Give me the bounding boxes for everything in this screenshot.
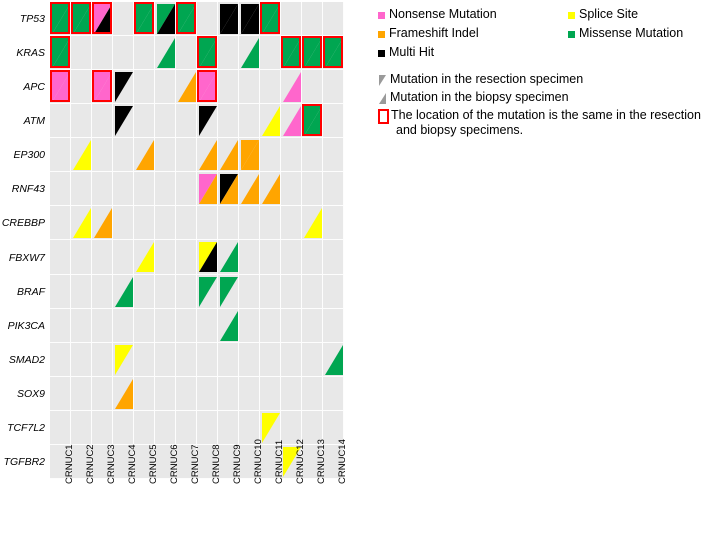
oncoprint-cell <box>239 240 260 274</box>
oncoprint-cell <box>71 377 92 411</box>
mutation-triangle-biopsy <box>73 140 91 170</box>
legend-highlight-note-line1: The location of the mutation is the same… <box>391 108 701 122</box>
mutation-triangle-biopsy <box>241 140 259 170</box>
legend-label-nonsense-mutation: Nonsense Mutation <box>389 8 497 21</box>
oncoprint-cell <box>50 240 71 274</box>
oncoprint-cell <box>176 36 197 70</box>
oncoprint-cell <box>134 36 155 70</box>
oncoprint-cell <box>176 309 197 343</box>
oncoprint-cell <box>239 70 260 104</box>
oncoprint-cell <box>134 343 155 377</box>
oncoprint-cell <box>176 206 197 240</box>
legend-label-multi-hit: Multi Hit <box>389 46 434 59</box>
oncoprint-cell <box>71 309 92 343</box>
same-location-highlight <box>260 2 280 34</box>
oncoprint-cell <box>71 240 92 274</box>
oncoprint-cell <box>260 240 281 274</box>
oncoprint-cell <box>260 70 281 104</box>
legend-swatch-multi-hit <box>378 50 385 57</box>
oncoprint-cell <box>281 275 302 309</box>
oncoprint-figure: TP53KRASAPCATMEP300RNF43CREBBPFBXW7BRAFP… <box>0 0 360 537</box>
legend-biopsy-triangle-icon <box>379 93 386 104</box>
mutation-triangle-biopsy <box>220 311 238 341</box>
sample-label-crnuc14: CRNUC14 <box>338 439 347 484</box>
same-location-highlight <box>176 2 196 34</box>
oncoprint-cell <box>50 138 71 172</box>
legend-highlight-box-icon <box>378 109 389 124</box>
oncoprint-cell <box>239 309 260 343</box>
oncoprint-cell <box>71 172 92 206</box>
oncoprint-cell <box>323 240 344 274</box>
oncoprint-cell <box>218 206 239 240</box>
oncoprint-cell <box>92 309 113 343</box>
same-location-highlight <box>71 2 91 34</box>
mutation-triangle-biopsy <box>304 208 322 238</box>
oncoprint-cell <box>302 240 323 274</box>
oncoprint-cell <box>113 309 134 343</box>
same-location-highlight <box>92 2 112 34</box>
oncoprint-cell <box>50 275 71 309</box>
mutation-triangle-biopsy <box>178 72 196 102</box>
oncoprint-cell <box>323 70 344 104</box>
oncoprint-cell <box>281 206 302 240</box>
oncoprint-cell <box>92 411 113 445</box>
gene-label-pik3ca: PIK3CA <box>0 321 45 331</box>
oncoprint-cell <box>134 70 155 104</box>
oncoprint-cell <box>260 377 281 411</box>
oncoprint-cell <box>281 2 302 36</box>
oncoprint-cell <box>92 104 113 138</box>
same-location-highlight <box>50 2 70 34</box>
sample-label-crnuc12: CRNUC12 <box>296 439 305 484</box>
sample-label-crnuc9: CRNUC9 <box>233 444 242 484</box>
gene-label-sox9: SOX9 <box>0 389 45 399</box>
gene-label-crebbp: CREBBP <box>0 218 45 228</box>
gene-label-tp53: TP53 <box>0 14 45 24</box>
mutation-triangle-biopsy <box>262 174 280 204</box>
oncoprint-cell <box>113 36 134 70</box>
mutation-triangle-biopsy <box>220 140 238 170</box>
oncoprint-cell <box>50 104 71 138</box>
oncoprint-cell <box>239 377 260 411</box>
same-location-highlight <box>323 36 343 68</box>
same-location-highlight <box>302 104 322 136</box>
oncoprint-cell <box>197 343 218 377</box>
mutation-triangle-biopsy <box>199 174 217 204</box>
oncoprint-cell <box>50 377 71 411</box>
oncoprint-cell <box>176 275 197 309</box>
mutation-triangle-biopsy <box>220 4 238 34</box>
oncoprint-cell <box>218 343 239 377</box>
gene-label-apc: APC <box>0 82 45 92</box>
oncoprint-cell <box>176 377 197 411</box>
gene-label-smad2: SMAD2 <box>0 355 45 365</box>
legend: Nonsense MutationSplice SiteFrameshift I… <box>378 8 723 148</box>
oncoprint-cell <box>323 104 344 138</box>
oncoprint-cell <box>281 240 302 274</box>
mutation-triangle-biopsy <box>136 242 154 272</box>
mutation-triangle-biopsy <box>157 38 175 68</box>
oncoprint-cell <box>50 172 71 206</box>
gene-label-atm: ATM <box>0 116 45 126</box>
oncoprint-cell <box>113 172 134 206</box>
legend-swatch-frameshift-indel <box>378 31 385 38</box>
legend-resection-triangle-icon <box>379 75 386 86</box>
oncoprint-cell <box>281 138 302 172</box>
oncoprint-cell <box>323 309 344 343</box>
oncoprint-grid <box>50 2 344 479</box>
oncoprint-cell <box>218 36 239 70</box>
mutation-triangle-resection <box>262 413 280 443</box>
legend-highlight-note-line2: and biopsy specimens. <box>396 123 523 137</box>
oncoprint-cell <box>155 138 176 172</box>
oncoprint-cell <box>302 138 323 172</box>
oncoprint-cell <box>281 343 302 377</box>
legend-swatch-splice-site <box>568 12 575 19</box>
mutation-triangle-biopsy <box>199 140 217 170</box>
oncoprint-cell <box>218 411 239 445</box>
oncoprint-cell <box>155 206 176 240</box>
oncoprint-cell <box>302 172 323 206</box>
oncoprint-cell <box>92 240 113 274</box>
oncoprint-cell <box>134 104 155 138</box>
legend-biopsy-note: Mutation in the biopsy specimen <box>390 91 569 104</box>
oncoprint-cell <box>71 36 92 70</box>
mutation-triangle-biopsy <box>220 174 238 204</box>
oncoprint-cell <box>176 138 197 172</box>
oncoprint-cell <box>176 343 197 377</box>
oncoprint-cell <box>260 309 281 343</box>
oncoprint-cell <box>260 275 281 309</box>
oncoprint-cell <box>302 377 323 411</box>
mutation-triangle-biopsy <box>325 345 343 375</box>
oncoprint-cell <box>218 377 239 411</box>
sample-label-crnuc1: CRNUC1 <box>65 444 74 484</box>
sample-label-crnuc10: CRNUC10 <box>254 439 263 484</box>
mutation-triangle-biopsy <box>283 72 301 102</box>
mutation-triangle-resection <box>199 106 217 136</box>
oncoprint-cell <box>323 2 344 36</box>
mutation-triangle-resection <box>115 72 133 102</box>
oncoprint-cell <box>71 275 92 309</box>
mutation-triangle-biopsy <box>241 38 259 68</box>
mutation-triangle-biopsy <box>262 106 280 136</box>
gene-label-tgfbr2: TGFBR2 <box>0 457 45 467</box>
legend-resection-note: Mutation in the resection specimen <box>390 73 583 86</box>
gene-label-braf: BRAF <box>0 287 45 297</box>
oncoprint-cell <box>302 343 323 377</box>
mutation-triangle-biopsy <box>115 379 133 409</box>
oncoprint-cell <box>155 240 176 274</box>
mutation-triangle-biopsy <box>241 4 259 34</box>
oncoprint-cell <box>155 377 176 411</box>
oncoprint-cell <box>50 309 71 343</box>
oncoprint-cell <box>197 377 218 411</box>
oncoprint-cell <box>260 138 281 172</box>
oncoprint-cell <box>92 343 113 377</box>
oncoprint-cell <box>197 309 218 343</box>
oncoprint-cell <box>176 411 197 445</box>
oncoprint-cell <box>239 206 260 240</box>
oncoprint-cell <box>197 411 218 445</box>
legend-swatch-missense-mutation <box>568 31 575 38</box>
gene-label-fbxw7: FBXW7 <box>0 253 45 263</box>
same-location-highlight <box>50 36 70 68</box>
sample-label-crnuc8: CRNUC8 <box>212 444 221 484</box>
mutation-triangle-resection <box>199 277 217 307</box>
oncoprint-cell <box>71 104 92 138</box>
oncoprint-cell <box>50 343 71 377</box>
oncoprint-cell <box>155 104 176 138</box>
same-location-highlight <box>92 70 112 102</box>
sample-label-crnuc11: CRNUC11 <box>275 440 284 484</box>
gene-axis: TP53KRASAPCATMEP300RNF43CREBBPFBXW7BRAFP… <box>0 0 48 480</box>
oncoprint-cell <box>176 172 197 206</box>
legend-label-splice-site: Splice Site <box>579 8 638 21</box>
oncoprint-cell <box>92 138 113 172</box>
mutation-triangle-biopsy <box>136 140 154 170</box>
gene-label-ep300: EP300 <box>0 150 45 160</box>
mutation-triangle-biopsy <box>199 242 217 272</box>
oncoprint-cell <box>260 343 281 377</box>
oncoprint-cell <box>302 2 323 36</box>
legend-swatch-nonsense-mutation <box>378 12 385 19</box>
sample-label-crnuc13: CRNUC13 <box>317 439 326 484</box>
mutation-triangle-resection <box>115 345 133 375</box>
oncoprint-cell <box>113 240 134 274</box>
same-location-highlight <box>197 70 217 102</box>
oncoprint-cell <box>323 377 344 411</box>
oncoprint-cell <box>92 275 113 309</box>
oncoprint-cell <box>71 343 92 377</box>
oncoprint-cell <box>50 206 71 240</box>
sample-axis: CRNUC1CRNUC2CRNUC3CRNUC4CRNUC5CRNUC6CRNU… <box>50 482 350 537</box>
oncoprint-cell <box>302 309 323 343</box>
oncoprint-cell <box>134 411 155 445</box>
oncoprint-cell <box>323 138 344 172</box>
sample-label-crnuc7: CRNUC7 <box>191 444 200 484</box>
sample-label-crnuc3: CRNUC3 <box>107 444 116 484</box>
gene-label-tcf7l2: TCF7L2 <box>0 423 45 433</box>
mutation-triangle-biopsy <box>73 208 91 238</box>
mutation-triangle-resection <box>115 106 133 136</box>
mutation-triangle-biopsy <box>115 277 133 307</box>
oncoprint-cell <box>323 275 344 309</box>
oncoprint-cell <box>302 275 323 309</box>
oncoprint-cell <box>71 70 92 104</box>
sample-label-crnuc2: CRNUC2 <box>86 444 95 484</box>
oncoprint-cell <box>176 104 197 138</box>
oncoprint-cell <box>197 206 218 240</box>
legend-label-missense-mutation: Missense Mutation <box>579 27 683 40</box>
oncoprint-cell <box>92 377 113 411</box>
oncoprint-cell <box>281 309 302 343</box>
oncoprint-cell <box>218 70 239 104</box>
oncoprint-cell <box>92 172 113 206</box>
oncoprint-cell <box>113 411 134 445</box>
oncoprint-cell <box>239 104 260 138</box>
oncoprint-cell <box>302 70 323 104</box>
mutation-triangle-resection <box>220 277 238 307</box>
sample-label-crnuc4: CRNUC4 <box>128 444 137 484</box>
oncoprint-cell <box>155 172 176 206</box>
oncoprint-cell <box>113 206 134 240</box>
oncoprint-cell <box>134 309 155 343</box>
oncoprint-cell <box>92 36 113 70</box>
mutation-triangle-biopsy <box>283 106 301 136</box>
gene-label-rnf43: RNF43 <box>0 184 45 194</box>
same-location-highlight <box>281 36 301 68</box>
oncoprint-cell <box>155 411 176 445</box>
oncoprint-cell <box>155 343 176 377</box>
oncoprint-cell <box>71 411 92 445</box>
oncoprint-cell <box>134 172 155 206</box>
oncoprint-cell <box>323 206 344 240</box>
oncoprint-cell <box>134 377 155 411</box>
oncoprint-cell <box>155 275 176 309</box>
oncoprint-cell <box>281 377 302 411</box>
oncoprint-cell <box>260 36 281 70</box>
oncoprint-cell <box>134 206 155 240</box>
oncoprint-cell <box>218 104 239 138</box>
oncoprint-cell <box>176 240 197 274</box>
mutation-triangle-biopsy <box>157 4 175 34</box>
oncoprint-cell <box>323 172 344 206</box>
oncoprint-cell <box>239 343 260 377</box>
same-location-highlight <box>134 2 154 34</box>
sample-label-crnuc5: CRNUC5 <box>149 444 158 484</box>
oncoprint-cell <box>155 309 176 343</box>
gene-label-kras: KRAS <box>0 48 45 58</box>
mutation-triangle-biopsy <box>220 242 238 272</box>
oncoprint-cell <box>50 411 71 445</box>
oncoprint-cell <box>281 172 302 206</box>
sample-label-crnuc6: CRNUC6 <box>170 444 179 484</box>
same-location-highlight <box>50 70 70 102</box>
oncoprint-cell <box>113 138 134 172</box>
oncoprint-cell <box>260 206 281 240</box>
same-location-highlight <box>197 36 217 68</box>
same-location-highlight <box>302 36 322 68</box>
oncoprint-cell <box>134 275 155 309</box>
legend-label-frameshift-indel: Frameshift Indel <box>389 27 479 40</box>
oncoprint-cell <box>239 275 260 309</box>
oncoprint-cell <box>113 2 134 36</box>
oncoprint-cell <box>197 2 218 36</box>
oncoprint-cell <box>155 70 176 104</box>
mutation-triangle-biopsy <box>241 174 259 204</box>
mutation-triangle-biopsy <box>94 208 112 238</box>
